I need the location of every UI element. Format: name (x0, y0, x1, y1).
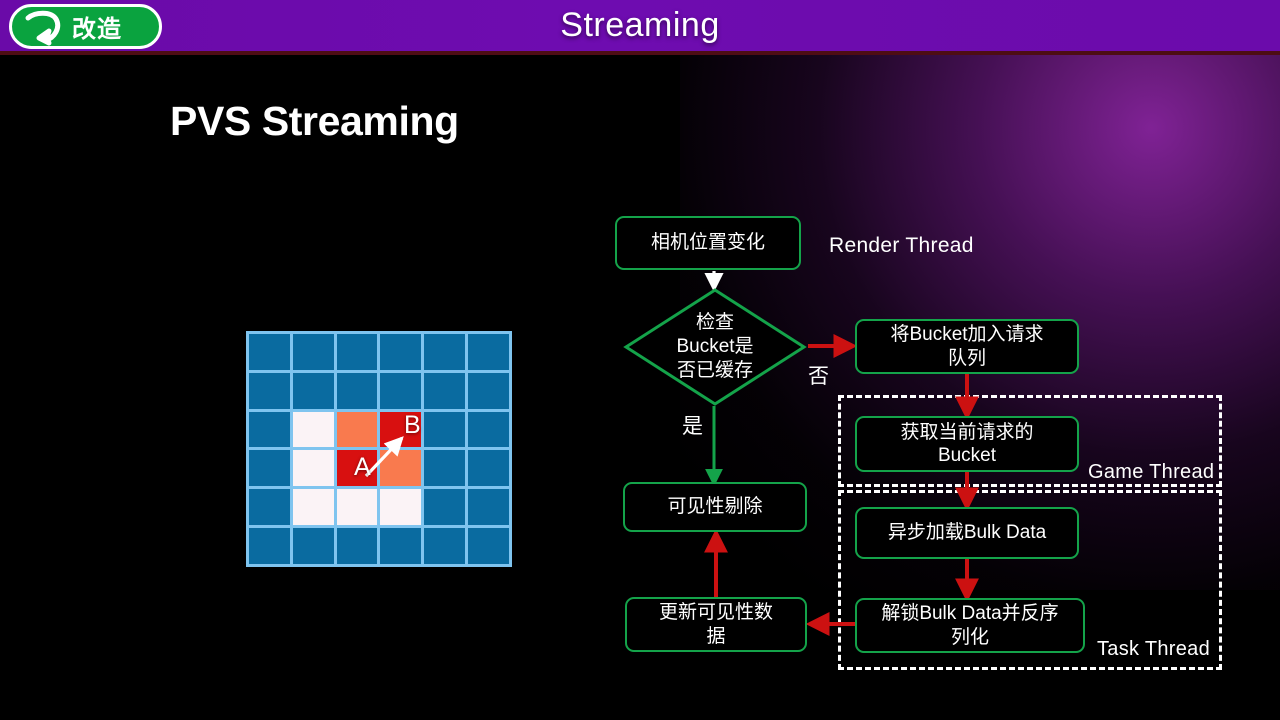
node-enqueue-bucket-request[interactable]: 将Bucket加入请求 队列 (855, 319, 1079, 374)
edge-label-no: 否 (808, 360, 829, 390)
edge-label-yes: 是 (682, 410, 703, 440)
pvs-streaming-flowchart: Game Thread Task Thread Render Thread (0, 0, 1280, 720)
node-unlock-deserialize-bulk-data[interactable]: 解锁Bulk Data并反序 列化 (855, 598, 1085, 653)
node-check-bucket-cached-text: 检查 Bucket是 否已缓存 (623, 287, 807, 407)
check-text-line3: 否已缓存 (677, 359, 753, 383)
group-render-thread-label: Render Thread (829, 234, 974, 258)
check-text-line1: 检查 (696, 311, 734, 335)
slide-stage: Streaming 改造 PVS Streaming A B (0, 0, 1280, 720)
node-update-visibility-data[interactable]: 更新可见性数 据 (625, 597, 807, 652)
node-fetch-current-bucket[interactable]: 获取当前请求的 Bucket (855, 416, 1079, 472)
node-async-load-bulk-data[interactable]: 异步加载Bulk Data (855, 507, 1079, 559)
node-visibility-culling[interactable]: 可见性剔除 (623, 482, 807, 532)
group-game-thread-label: Game Thread (1088, 461, 1214, 484)
node-camera-position-change[interactable]: 相机位置变化 (615, 216, 801, 270)
group-task-thread-label: Task Thread (1097, 638, 1210, 661)
check-text-line2: Bucket是 (676, 335, 753, 359)
